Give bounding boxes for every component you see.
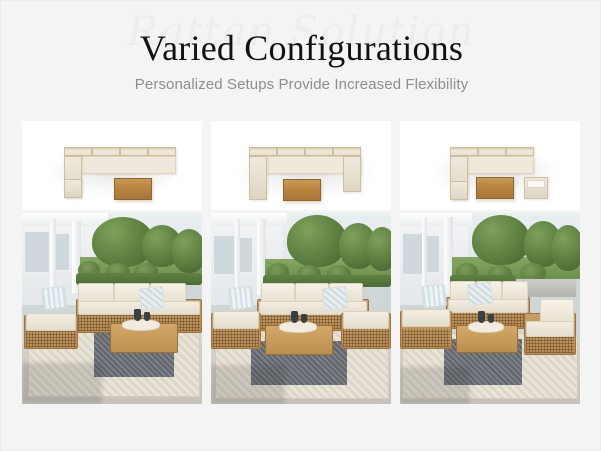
- header: Rattan Solution Varied Configurations Pe…: [1, 1, 601, 111]
- tree-right: [552, 225, 580, 271]
- porch-column-2: [50, 219, 56, 293]
- chaise-cushion: [26, 313, 76, 331]
- window-1: [213, 235, 235, 275]
- module-back-3: [305, 147, 333, 156]
- back-cushion-3: [502, 281, 528, 301]
- back-cushion-1: [78, 283, 114, 303]
- module-back-2: [92, 147, 120, 156]
- tree-large: [287, 215, 347, 267]
- ground-shadow: [400, 367, 470, 404]
- module-right-arm: [343, 156, 361, 192]
- pillow-striped: [228, 286, 254, 310]
- configuration-panel-1[interactable]: [22, 121, 202, 405]
- chaise-weave-texture: [402, 329, 450, 347]
- decor-vase-1: [291, 311, 298, 323]
- configuration-panels: [22, 121, 580, 405]
- patio-l-shape-with-armchair-photo: [400, 213, 580, 404]
- porch-column-2: [235, 219, 240, 295]
- module-left-arm: [249, 156, 267, 200]
- pillow-patterned: [322, 286, 348, 310]
- decor-vase-1: [134, 309, 141, 321]
- tree-large: [472, 215, 530, 265]
- pillow-patterned: [139, 286, 165, 310]
- configuration-panel-3[interactable]: [400, 121, 580, 405]
- decor-vase-2: [144, 312, 150, 321]
- window-1: [24, 231, 50, 273]
- window-1: [402, 233, 424, 275]
- tree-right: [367, 227, 391, 271]
- coffee-table: [476, 177, 514, 199]
- ground-shadow: [211, 365, 285, 404]
- porch-column-2: [422, 217, 427, 295]
- roof-eave: [400, 213, 472, 226]
- module-back-3: [506, 147, 534, 156]
- module-back-4: [333, 147, 361, 156]
- module-back-4: [148, 147, 176, 156]
- page-subtitle: Personalized Setups Provide Increased Fl…: [1, 75, 601, 95]
- decor-tray: [468, 321, 504, 333]
- poster-canvas: Rattan Solution Varied Configurations Pe…: [0, 0, 601, 451]
- decor-tray: [279, 321, 317, 333]
- window-2: [426, 235, 440, 273]
- module-back-2: [478, 147, 506, 156]
- decor-vase-1: [478, 311, 485, 323]
- u-shape-sectional-layout: [211, 121, 391, 210]
- armchair-weave-texture: [526, 337, 574, 353]
- back-cushion-1: [261, 283, 295, 303]
- decor-tray: [122, 319, 160, 331]
- module-back-1: [64, 147, 92, 156]
- decor-vase-2: [488, 314, 494, 323]
- patio-u-shape-sectional-photo: [211, 213, 391, 404]
- module-back-3: [120, 147, 148, 156]
- module-left-foot: [450, 181, 468, 200]
- patio-l-shape-sectional-photo: [22, 213, 202, 404]
- roof-eave: [22, 213, 108, 226]
- chaise-weave-texture: [26, 331, 76, 347]
- l-shape-sectional-layout: [22, 121, 202, 210]
- module-back-1: [450, 147, 478, 156]
- right-module-weave: [343, 329, 389, 347]
- left-module-cushion: [213, 311, 259, 329]
- armchair-seat-cushion: [526, 321, 574, 337]
- module-chaise-left-foot: [64, 179, 82, 198]
- armchair-cushion: [527, 180, 545, 188]
- chaise-cushion: [402, 309, 450, 327]
- pillow-patterned: [467, 282, 493, 306]
- page-title: Varied Configurations: [1, 27, 601, 69]
- pillow-striped: [41, 286, 67, 310]
- left-module-weave: [213, 329, 259, 347]
- coffee-table: [283, 179, 321, 201]
- roof-eave: [211, 213, 287, 226]
- module-back-1: [249, 147, 277, 156]
- pillow-striped: [421, 284, 447, 308]
- right-module-cushion: [343, 311, 389, 329]
- ground-shadow: [22, 363, 102, 404]
- coffee-table: [114, 178, 152, 200]
- decor-vase-2: [301, 314, 307, 323]
- configuration-panel-2[interactable]: [211, 121, 391, 405]
- module-back-2: [277, 147, 305, 156]
- l-shape-with-armchair-layout: [400, 121, 580, 210]
- tree-right: [172, 229, 202, 273]
